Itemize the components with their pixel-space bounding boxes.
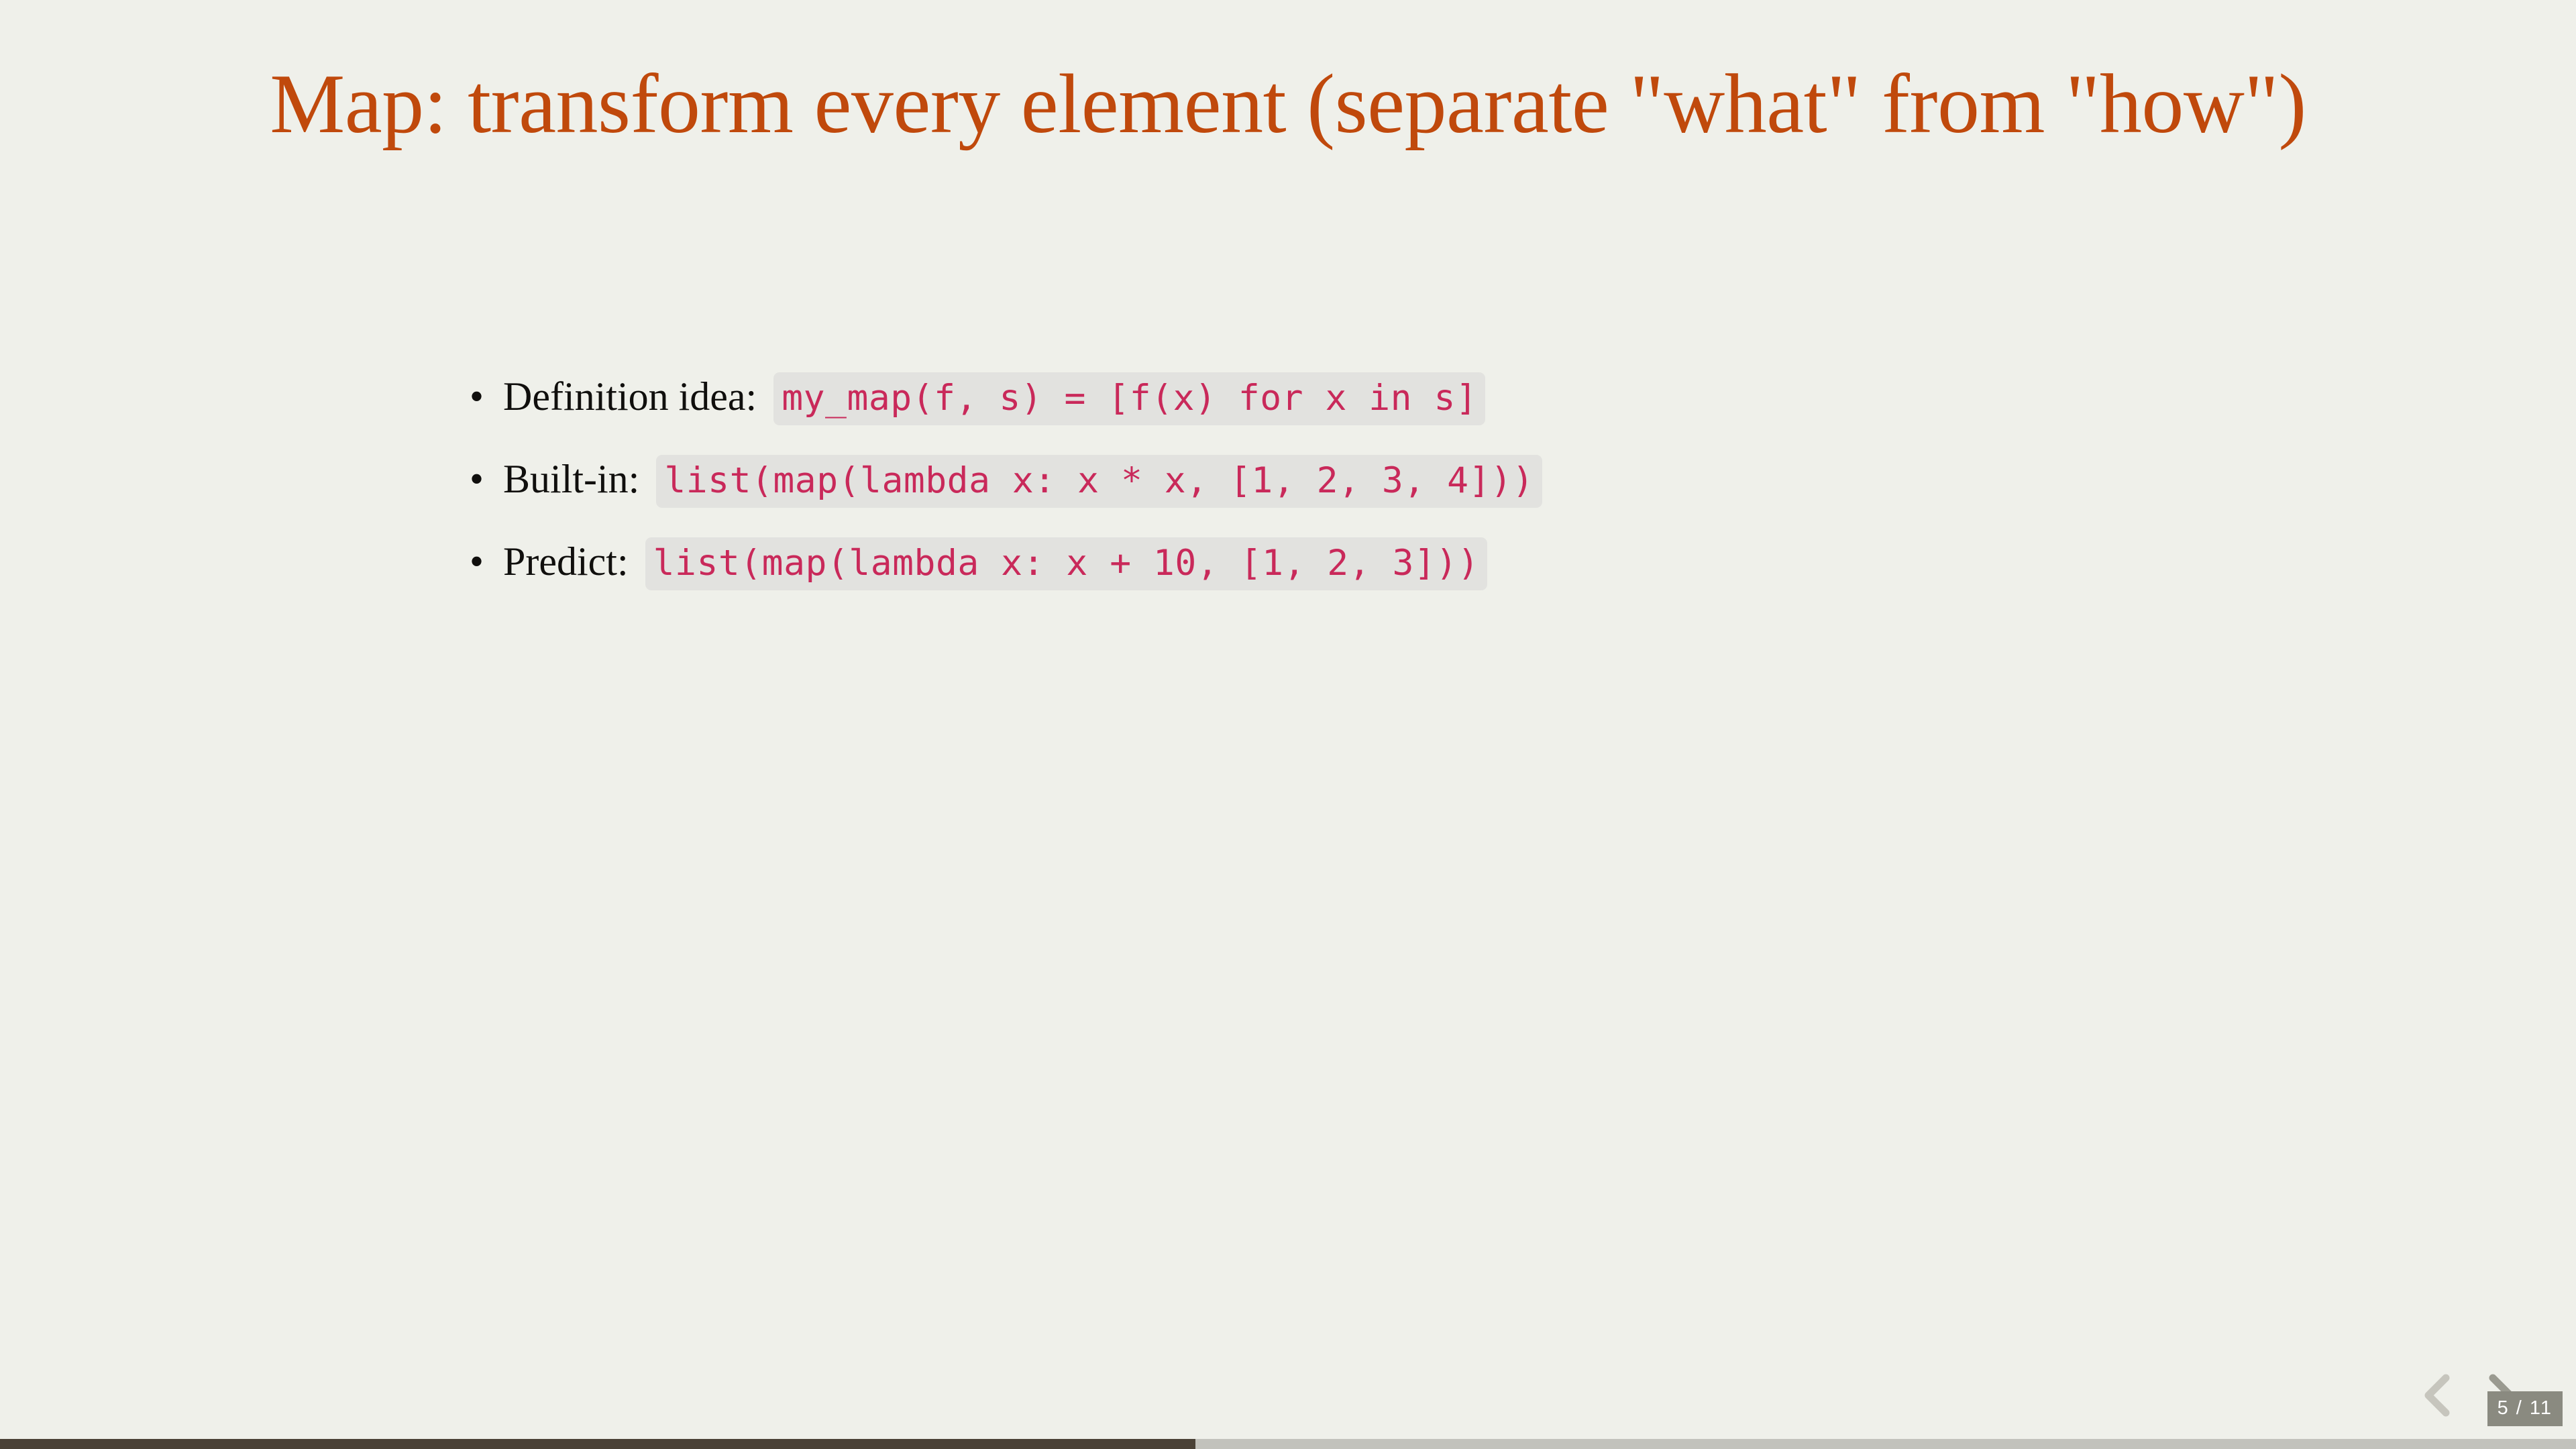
bullet-label: Definition idea: [503, 374, 757, 419]
bullet-point-icon: • [470, 445, 490, 514]
bullet-point-icon: • [470, 362, 490, 431]
list-item: • Definition idea: my_map(f, s) = [f(x) … [463, 362, 2408, 431]
list-item: • Built-in: list(map(lambda x: x * x, [1… [463, 445, 2408, 514]
bullet-label: Predict: [503, 539, 629, 584]
bullet-list: • Definition idea: my_map(f, s) = [f(x) … [463, 362, 2408, 610]
inline-code-snippet: my_map(f, s) = [f(x) for x in s] [773, 372, 1485, 425]
inline-code-snippet: list(map(lambda x: x + 10, [1, 2, 3])) [645, 537, 1488, 590]
inline-code-snippet: list(map(lambda x: x * x, [1, 2, 3, 4])) [656, 455, 1542, 508]
slide-counter-badge: 5 / 11 [2487, 1391, 2563, 1426]
bullet-label: Built-in: [503, 457, 639, 501]
page-title: Map: transform every element (separate "… [107, 48, 2469, 161]
slide-progress-fill [0, 1439, 1195, 1449]
slide-navigation: 5 / 11 [2412, 1358, 2567, 1432]
slide-progress-bar [0, 1439, 2576, 1449]
presentation-slide: Map: transform every element (separate "… [0, 0, 2576, 1449]
previous-slide-button[interactable] [2412, 1368, 2462, 1422]
list-item: • Predict: list(map(lambda x: x + 10, [1… [463, 527, 2408, 596]
bullet-point-icon: • [470, 527, 490, 596]
chevron-left-icon [2412, 1368, 2462, 1422]
